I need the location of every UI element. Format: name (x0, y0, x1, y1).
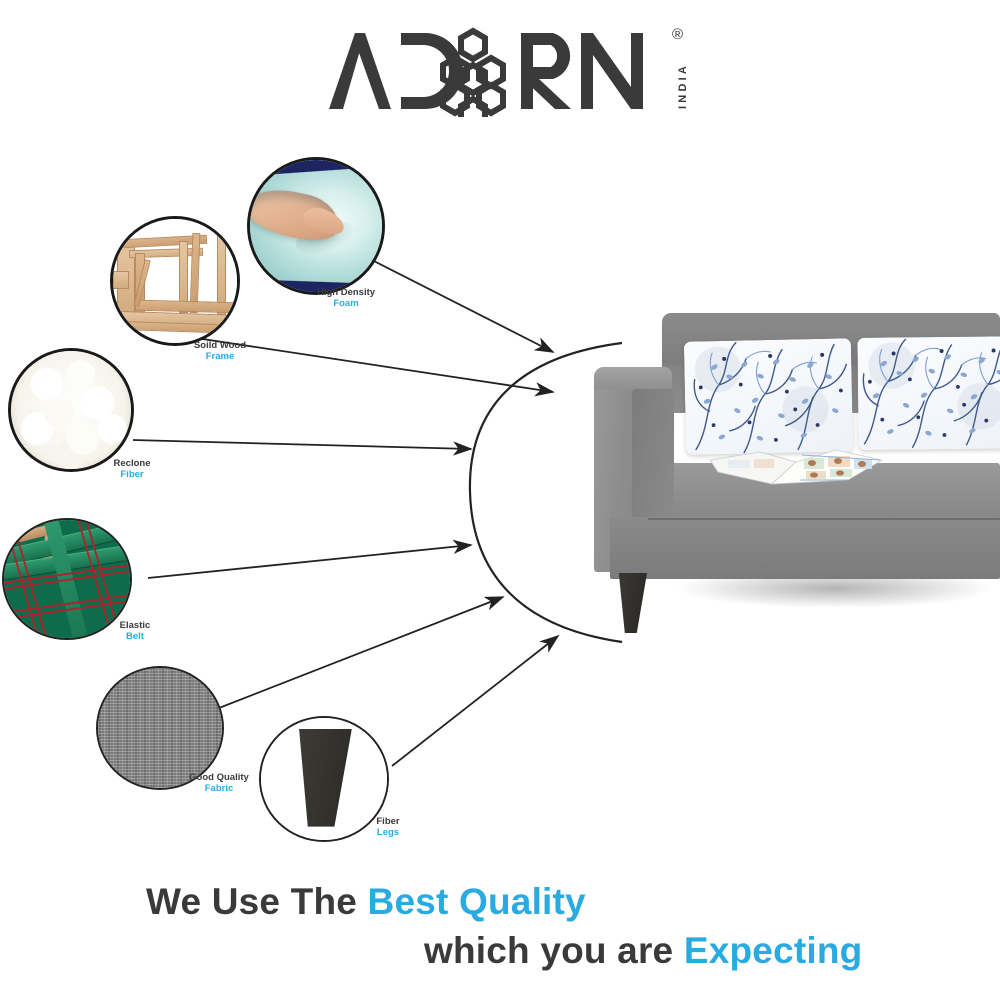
foam-swatch-icon (247, 157, 385, 295)
feature-label-line2: Foam (287, 298, 405, 309)
feature-label-line2: Legs (348, 827, 428, 838)
label-fiber-legs: Fiber Legs (348, 816, 428, 838)
tagline-line1-highlight: Best Quality (368, 881, 586, 922)
feature-label-line1: High Density (287, 287, 405, 298)
arrow-fabric (219, 597, 503, 708)
magazine-prop (708, 446, 884, 488)
fiber-fill-icon (8, 348, 134, 472)
arrow-belt (148, 545, 471, 578)
feature-label-line2: Belt (90, 631, 180, 642)
adorn-logo-mark (325, 25, 655, 117)
infographic-canvas: INDIA ® Hig (0, 0, 1000, 1000)
floral-pattern-right (857, 336, 1000, 450)
tagline-block: We Use The Best Quality which you are Ex… (0, 878, 1000, 976)
feature-label-line2: Frame (164, 351, 276, 362)
tagline-line2-highlight: Expecting (684, 930, 863, 971)
product-sofa-image (570, 305, 1000, 645)
sofa-seat-crease (648, 518, 1000, 520)
feature-label-line1: Soild Wood (164, 340, 276, 351)
tagline-line2-plain: which you are (424, 930, 684, 971)
feature-label-line1: Reclone (84, 458, 180, 469)
label-reclone-fiber: Reclone Fiber (84, 458, 180, 480)
label-elastic-belt: Elastic Belt (90, 620, 180, 642)
sofa-cushion-left (684, 338, 853, 454)
brand-logo: INDIA ® (325, 25, 685, 125)
tagline-line-1: We Use The Best Quality (0, 878, 1000, 927)
logo-india-text: INDIA (677, 63, 689, 109)
floral-pattern-left (684, 338, 853, 454)
tagline-line-2: which you are Expecting (0, 927, 1000, 976)
sofa-arm-top (594, 367, 672, 389)
sofa-arm-inner-panel (632, 389, 674, 519)
tagline-line1-plain: We Use The (146, 881, 368, 922)
wood-frame-icon (110, 216, 240, 346)
registered-trademark-icon: ® (672, 27, 683, 42)
arrow-fiber (133, 440, 471, 449)
label-soild-wood-frame: Soild Wood Frame (164, 340, 276, 362)
feature-label-line1: Fiber (348, 816, 428, 827)
sofa-cushion-right (857, 336, 1000, 450)
open-magazine-icon (708, 446, 884, 488)
label-high-density-foam: High Density Foam (287, 287, 405, 309)
feature-label-line2: Fiber (84, 469, 180, 480)
sofa-base (610, 517, 1000, 579)
arrow-legs (392, 636, 558, 766)
feature-label-line1: Elastic (90, 620, 180, 631)
